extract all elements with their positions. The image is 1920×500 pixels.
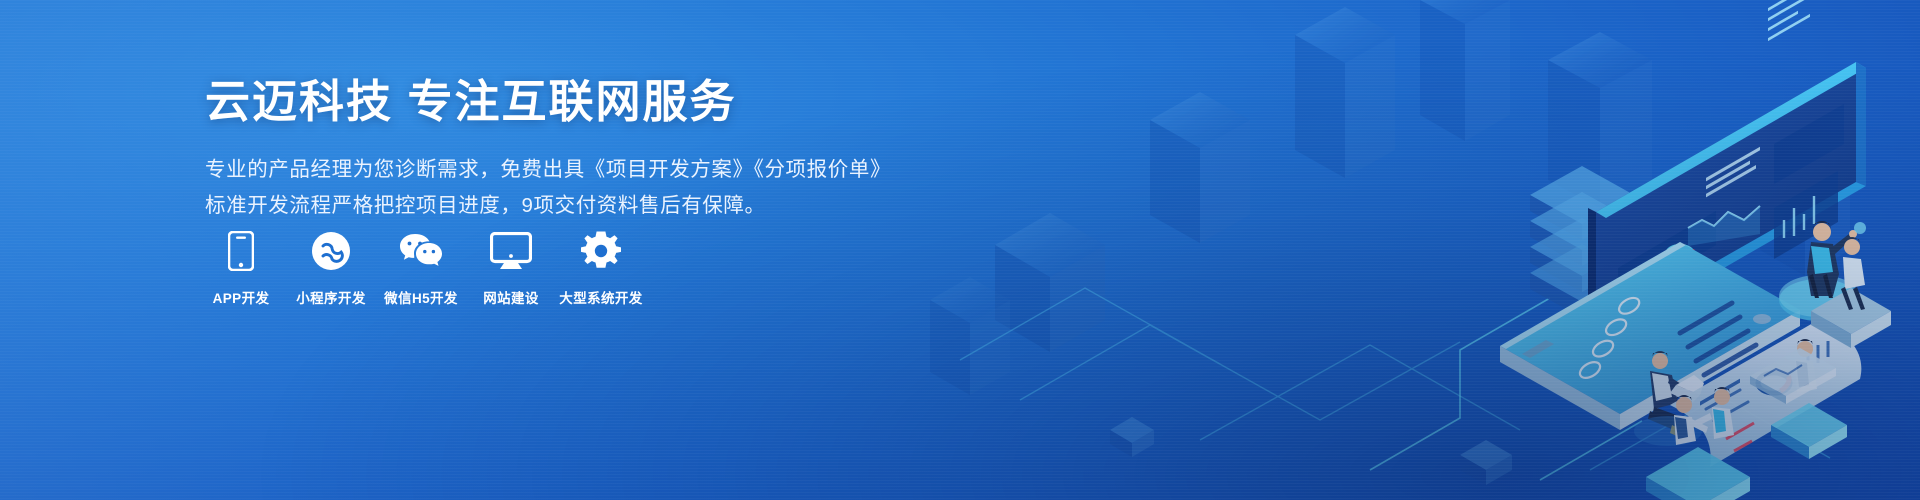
service-item-app[interactable]: APP开发	[205, 228, 277, 307]
smartphone-icon	[228, 228, 254, 274]
mini-program-icon	[311, 228, 351, 274]
service-label: 微信H5开发	[384, 287, 458, 307]
service-label: 小程序开发	[296, 287, 366, 307]
subcopy-line-1: 专业的产品经理为您诊断需求，免费出具《项目开发方案》《分项报价单》	[205, 152, 905, 188]
service-item-mini-program[interactable]: 小程序开发	[295, 228, 367, 307]
service-label: 网站建设	[483, 287, 539, 307]
hero-subcopy: 专业的产品经理为您诊断需求，免费出具《项目开发方案》《分项报价单》 标准开发流程…	[205, 152, 905, 224]
service-item-wechat-h5[interactable]: 微信H5开发	[385, 228, 457, 307]
service-label: APP开发	[213, 287, 270, 307]
subcopy-line-2: 标准开发流程严格把控项目进度，9项交付资料售后有保障。	[205, 188, 905, 224]
gear-icon	[581, 228, 621, 274]
hero-copy: 云迈科技 专注互联网服务 专业的产品经理为您诊断需求，免费出具《项目开发方案》《…	[205, 74, 905, 224]
isometric-tech-illustration	[900, 0, 1920, 500]
service-item-website[interactable]: 网站建设	[475, 228, 547, 307]
service-list: APP开发 小程序开发 微信	[205, 228, 637, 307]
hero-banner: 云迈科技 专注互联网服务 专业的产品经理为您诊断需求，免费出具《项目开发方案》《…	[0, 0, 1920, 500]
service-item-large-system[interactable]: 大型系统开发	[565, 228, 637, 307]
service-label: 大型系统开发	[559, 287, 642, 307]
wechat-icon	[399, 228, 443, 274]
monitor-icon	[490, 228, 532, 274]
page-title: 云迈科技 专注互联网服务	[205, 74, 905, 130]
